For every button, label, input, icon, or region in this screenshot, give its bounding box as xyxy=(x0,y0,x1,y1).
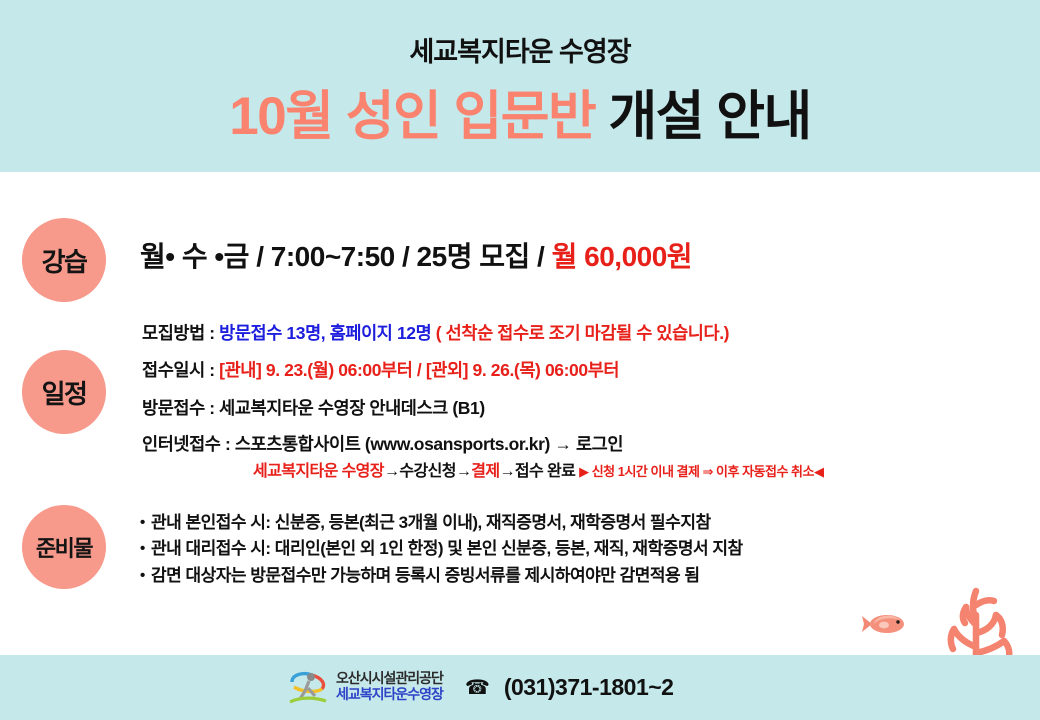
badge-schedule: 일정 xyxy=(22,350,106,434)
prepare-item-discount: •감면 대상자는 방문접수만 가능하며 등록시 증빙서류를 제시하여야만 감면적… xyxy=(140,561,700,586)
schedule-row-recruit-method: 모집방법 : 방문접수 13명, 홈페이지 12명 ( 선착순 접수로 조기 마… xyxy=(142,320,729,345)
flow-arrow-1: → xyxy=(384,463,399,480)
schedule-label: 인터넷접수 : 스포츠통합사이트 (www.osansports.or.kr) … xyxy=(142,434,623,454)
phone-number: (031)371-1801~2 xyxy=(504,674,674,701)
schedule-value-blue: 방문접수 13명, 홈페이지 12명 xyxy=(219,323,436,343)
schedule-label: 방문접수 : 세교복지타운 수영장 안내데스크 (B1) xyxy=(142,398,485,418)
bullet-icon: • xyxy=(140,540,151,557)
page-title-rest: 개설 안내 xyxy=(608,87,810,146)
organization-logo-icon xyxy=(288,666,332,708)
organization-name: 오산시시설관리공단 세교복지타운수영장 xyxy=(336,671,443,702)
schedule-value-red: [관내] 9. 23.(월) 06:00부터 / [관외] 9. 26.(목) … xyxy=(219,360,619,380)
schedule-label: 모집방법 : xyxy=(142,323,219,343)
phone-icon: ☎ xyxy=(465,675,490,700)
lesson-detail-text: 월• 수 •금 / 7:00~7:50 / 25명 모집 / xyxy=(140,241,552,272)
flow-step-pool: 세교복지타운 수영장 xyxy=(253,463,384,480)
prepare-item-text: 관내 본인접수 시: 신분증, 등본(최근 3개월 이내), 재직증명서, 재학… xyxy=(151,513,711,532)
organization-line-2: 세교복지타운수영장 xyxy=(336,687,443,703)
prepare-item-self: •관내 본인접수 시: 신분증, 등본(최근 3개월 이내), 재직증명서, 재… xyxy=(140,508,711,533)
coral-icon xyxy=(930,585,1022,665)
prepare-item-text: 관내 대리접수 시: 대리인(본인 외 1인 한정) 및 본인 신분증, 등본,… xyxy=(151,539,743,558)
lesson-price: 월 60,000원 xyxy=(552,241,692,272)
flow-payment-note: ▶ 신청 1시간 이내 결제 ⇒ 이후 자동접수 취소◀ xyxy=(579,464,823,479)
fish-icon xyxy=(862,612,908,636)
organization-line-1: 오산시시설관리공단 xyxy=(336,671,443,687)
phone-group: ☎ (031)371-1801~2 xyxy=(465,674,674,701)
badge-lesson: 강습 xyxy=(22,218,106,302)
bullet-icon: • xyxy=(140,514,151,531)
flow-step-apply: 수강신청 xyxy=(399,463,455,480)
flow-arrow-3: → xyxy=(499,463,514,480)
footer-content: 오산시시설관리공단 세교복지타운수영장 ☎ (031)371-1801~2 xyxy=(288,666,673,708)
schedule-value-red: ( 선착순 접수로 조기 마감될 수 있습니다.) xyxy=(436,323,729,343)
prepare-item-proxy: •관내 대리접수 시: 대리인(본인 외 1인 한정) 및 본인 신분증, 등본… xyxy=(140,534,743,559)
schedule-row-online-registration: 인터넷접수 : 스포츠통합사이트 (www.osansports.or.kr) … xyxy=(142,431,623,456)
schedule-row-visit-registration: 방문접수 : 세교복지타운 수영장 안내데스크 (B1) xyxy=(142,395,485,420)
page-title-highlight: 10월 성인 입문반 xyxy=(229,87,595,146)
flow-step-payment: 결제 xyxy=(471,463,499,480)
flow-step-complete: 접수 완료 xyxy=(515,463,575,480)
flow-arrow-2: → xyxy=(456,463,471,480)
prepare-item-text: 감면 대상자는 방문접수만 가능하며 등록시 증빙서류를 제시하여야만 감면적용… xyxy=(151,566,700,585)
schedule-row-registration-date: 접수일시 : [관내] 9. 23.(월) 06:00부터 / [관외] 9. … xyxy=(142,357,619,382)
schedule-label: 접수일시 : xyxy=(142,360,219,380)
header-subtitle: 세교복지타운 수영장 xyxy=(0,30,1040,69)
badge-prepare: 준비물 xyxy=(22,505,106,589)
lesson-detail-line: 월• 수 •금 / 7:00~7:50 / 25명 모집 / 월 60,000원 xyxy=(140,235,692,275)
bullet-icon: • xyxy=(140,567,151,584)
registration-flow-line: 세교복지타운 수영장→수강신청→결제→접수 완료 ▶ 신청 1시간 이내 결제 … xyxy=(253,457,823,481)
page-title: 10월 성인 입문반 개설 안내 xyxy=(0,74,1040,150)
